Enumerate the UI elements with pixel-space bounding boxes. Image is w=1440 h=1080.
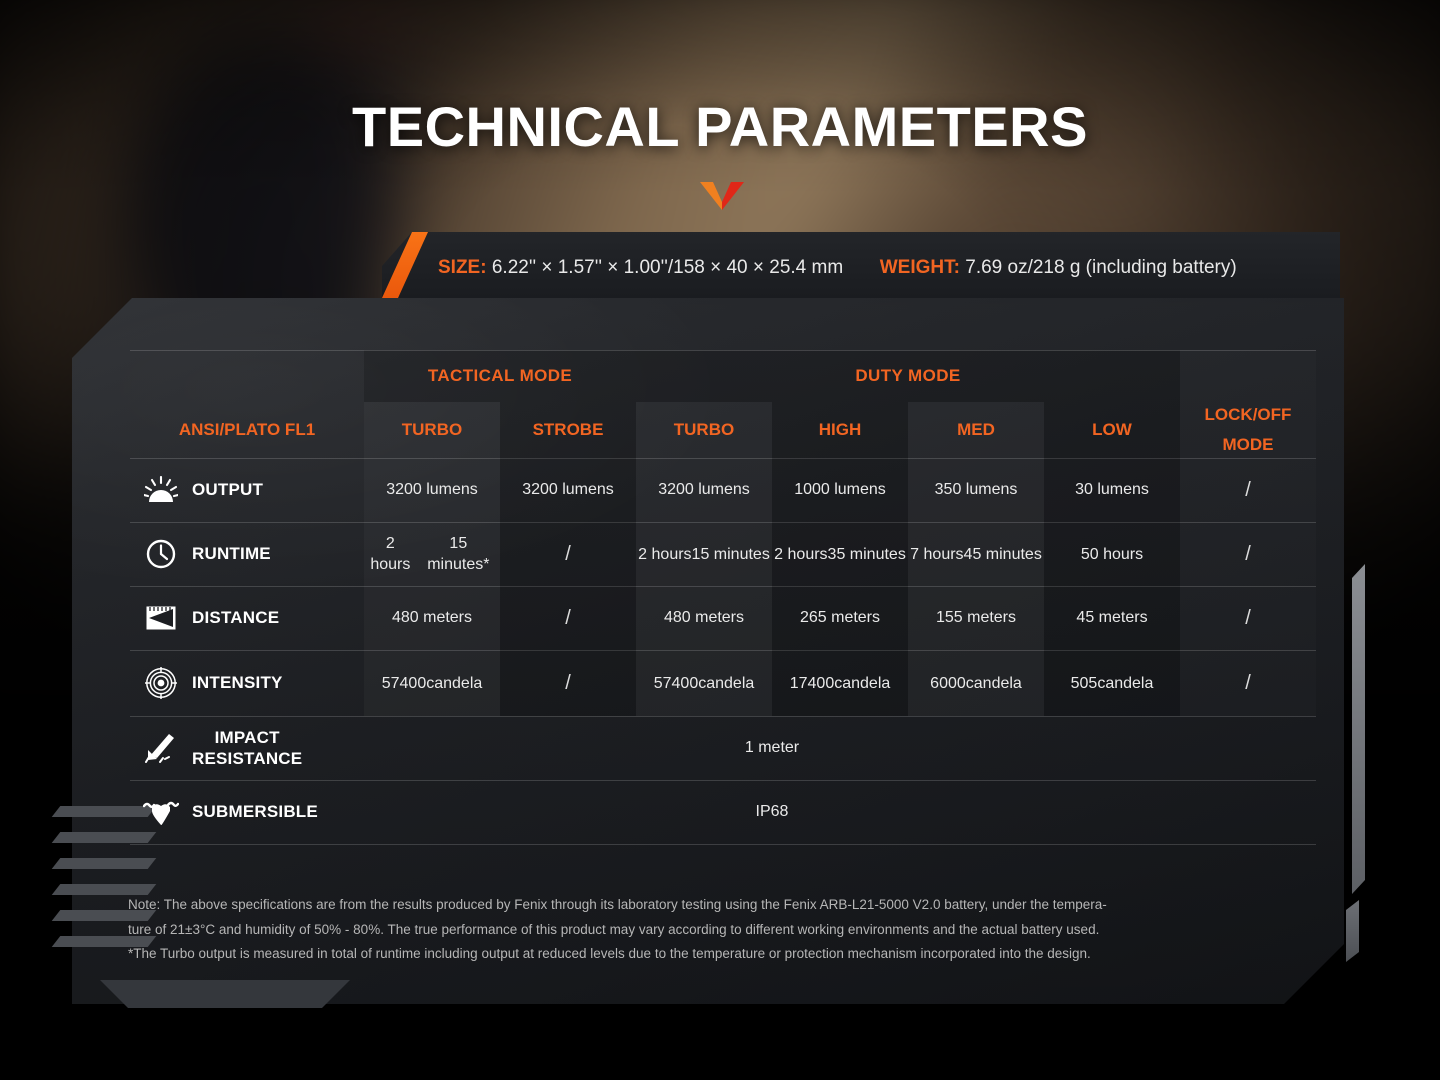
cell-runtime-duty-med: 7 hours45 minutes — [908, 522, 1044, 586]
row-label-text: IMPACTRESISTANCE — [192, 727, 302, 769]
row-label-intensity: INTENSITY — [130, 650, 364, 716]
sun-rays-icon — [142, 473, 180, 507]
ansi-plato-label: ANSI/PLATO FL1 — [179, 420, 315, 440]
row-label-impact-resistance: IMPACTRESISTANCE — [130, 716, 364, 780]
column-header-tactical-strobe: STROBE — [500, 402, 636, 458]
row-label-submersible: SUBMERSIBLE — [130, 780, 364, 844]
column-header-duty-high: HIGH — [772, 402, 908, 458]
chevron-down-icon — [700, 180, 744, 210]
footer-note-line1: Note: The above specifications are from … — [128, 893, 1340, 918]
bottom-corner-accent — [100, 980, 350, 1008]
row-label-text: SUBMERSIBLE — [192, 802, 318, 822]
row-label-text: DISTANCE — [192, 608, 279, 628]
table-row: IMPACTRESISTANCE 1 meter — [130, 716, 1316, 780]
table-row: OUTPUT 3200 lumens 3200 lumens 3200 lume… — [130, 458, 1316, 522]
cell-distance-lock: / — [1180, 586, 1316, 650]
spec-table: TACTICAL MODE DUTY MODE ANSI/PLATO FL1 T… — [130, 350, 1316, 844]
size-label: SIZE: — [438, 257, 487, 278]
cell-distance-duty-low: 45 meters — [1044, 586, 1180, 650]
cell-runtime-tactical-strobe: / — [500, 522, 636, 586]
weight-value: 7.69 oz/218 g (including battery) — [965, 257, 1236, 278]
footer-note-line2: ture of 21±3°C and humidity of 50% - 80%… — [128, 918, 1340, 943]
lock-header-line1: LOCK/OFF — [1205, 400, 1292, 430]
clock-icon — [142, 537, 180, 571]
column-header-lock-off: LOCK/OFF MODE — [1180, 402, 1316, 458]
cell-impact-resistance-value: 1 meter — [364, 716, 1180, 780]
column-header-duty-med: MED — [908, 402, 1044, 458]
column-header-tactical-turbo: TURBO — [364, 402, 500, 458]
table-row: DISTANCE 480 meters / 480 meters 265 met… — [130, 586, 1316, 650]
cell-output-duty-turbo: 3200 lumens — [636, 458, 772, 522]
cell-intensity-duty-low: 505candela — [1044, 650, 1180, 716]
beam-ruler-icon — [142, 601, 180, 635]
row-label-output: OUTPUT — [130, 458, 364, 522]
column-header-duty-turbo: TURBO — [636, 402, 772, 458]
specs-line: SIZE: 6.22'' × 1.57'' × 1.00''/158 × 40 … — [438, 257, 1237, 279]
lock-header-line2: MODE — [1205, 430, 1292, 460]
size-value: 6.22'' × 1.57'' × 1.00''/158 × 40 × 25.4… — [492, 257, 843, 278]
cell-distance-tactical-strobe: / — [500, 586, 636, 650]
cell-submersible-value: IP68 — [364, 780, 1180, 844]
cell-distance-tactical-turbo: 480 meters — [364, 586, 500, 650]
table-column-header-row: ANSI/PLATO FL1 TURBO STROBE TURBO HIGH M… — [130, 402, 1316, 458]
cell-runtime-lock: / — [1180, 522, 1316, 586]
cell-distance-duty-turbo: 480 meters — [636, 586, 772, 650]
group-header-tactical: TACTICAL MODE — [364, 350, 636, 402]
cell-output-duty-high: 1000 lumens — [772, 458, 908, 522]
cell-runtime-duty-low: 50 hours — [1044, 522, 1180, 586]
weight-label: WEIGHT: — [880, 257, 960, 278]
footer-note-line3: *The Turbo output is measured in total o… — [128, 942, 1340, 967]
target-crosshair-icon — [142, 666, 180, 700]
table-row: RUNTIME 2 hours15 minutes* / 2 hours15 m… — [130, 522, 1316, 586]
cell-intensity-tactical-turbo: 57400candela — [364, 650, 500, 716]
cell-runtime-tactical-turbo: 2 hours15 minutes* — [364, 522, 500, 586]
right-accent-bar-small — [1346, 900, 1359, 962]
row-label-text: RUNTIME — [192, 544, 271, 564]
cell-intensity-duty-turbo: 57400candela — [636, 650, 772, 716]
footer-note: Note: The above specifications are from … — [128, 893, 1340, 967]
cell-intensity-tactical-strobe: / — [500, 650, 636, 716]
row-label-text: INTENSITY — [192, 673, 283, 693]
column-header-duty-low: LOW — [1044, 402, 1180, 458]
cell-runtime-duty-high: 2 hours35 minutes — [772, 522, 908, 586]
cell-output-lock: / — [1180, 458, 1316, 522]
ansi-corner-cell — [130, 350, 364, 402]
ansi-label-cell: ANSI/PLATO FL1 — [130, 402, 364, 458]
cell-output-tactical-strobe: 3200 lumens — [500, 458, 636, 522]
water-drop-icon — [142, 795, 180, 829]
table-row: INTENSITY 57400candela / 57400candela 17… — [130, 650, 1316, 716]
page-root: TECHNICAL PARAMETERS SIZE: 6.22'' × 1.57… — [0, 0, 1440, 1080]
lock-header-spacer — [1180, 350, 1316, 402]
row-label-runtime: RUNTIME — [130, 522, 364, 586]
cell-intensity-duty-med: 6000candela — [908, 650, 1044, 716]
table-group-header-row: TACTICAL MODE DUTY MODE — [130, 350, 1316, 402]
cell-output-tactical-turbo: 3200 lumens — [364, 458, 500, 522]
cell-intensity-lock: / — [1180, 650, 1316, 716]
cell-distance-duty-high: 265 meters — [772, 586, 908, 650]
cell-output-duty-med: 350 lumens — [908, 458, 1044, 522]
row-label-text: OUTPUT — [192, 480, 263, 500]
cell-runtime-duty-turbo: 2 hours15 minutes — [636, 522, 772, 586]
cell-distance-duty-med: 155 meters — [908, 586, 1044, 650]
cell-output-duty-low: 30 lumens — [1044, 458, 1180, 522]
right-accent-bar — [1352, 564, 1365, 894]
cell-intensity-duty-high: 17400candela — [772, 650, 908, 716]
table-row: SUBMERSIBLE IP68 — [130, 780, 1316, 844]
page-title: TECHNICAL PARAMETERS — [0, 94, 1440, 159]
group-header-duty: DUTY MODE — [636, 350, 1180, 402]
impact-hammer-icon — [142, 731, 180, 765]
row-label-distance: DISTANCE — [130, 586, 364, 650]
